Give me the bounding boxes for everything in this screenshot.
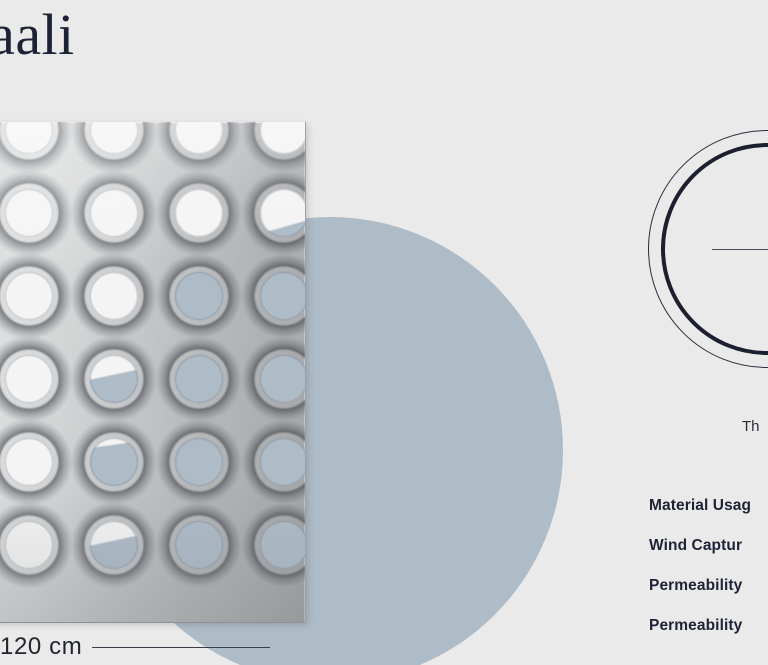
jaali-hole-bore	[260, 272, 306, 320]
jaali-hole-bore	[175, 521, 223, 569]
jaali-hole-bore	[175, 438, 223, 486]
jaali-hole-rim	[175, 521, 223, 569]
jaali-hole	[71, 336, 157, 422]
jaali-hole	[0, 253, 72, 339]
jaali-hole-bore	[90, 521, 138, 569]
jaali-hole-rim	[90, 438, 138, 486]
jaali-hole-bore	[175, 122, 223, 154]
jaali-hole-bore	[90, 355, 138, 403]
jaali-hole	[71, 170, 157, 256]
jaali-hole	[156, 170, 242, 256]
jaali-hole-rim	[175, 438, 223, 486]
jaali-hole-rim	[90, 355, 138, 403]
jaali-hole	[71, 419, 157, 505]
jaali-hole-bore	[5, 272, 53, 320]
jaali-hole	[71, 502, 157, 588]
jaali-hole	[0, 336, 72, 422]
stat-label: Material Usag	[649, 497, 751, 515]
poster-canvas: Jaali 120 cm Th Material Usag Wind Captu…	[0, 0, 768, 665]
jaali-hole-rim	[175, 355, 223, 403]
jaali-hole-rim	[175, 272, 223, 320]
jaali-hole	[156, 502, 242, 588]
dimension-width-label: 120 cm	[0, 633, 92, 661]
stat-row: Permeability	[649, 606, 768, 646]
stat-label: Wind Captur	[649, 537, 742, 555]
jaali-hole	[0, 122, 72, 173]
jaali-hole-rim	[260, 272, 306, 320]
jaali-hole-rim	[175, 189, 223, 237]
jaali-hole-bore	[5, 122, 53, 154]
thickness-caption: Th	[742, 418, 760, 435]
jaali-hole-bore	[260, 122, 306, 154]
jaali-hole-bore	[90, 189, 138, 237]
jaali-hole-bore	[260, 521, 306, 569]
jaali-hole-rim	[260, 355, 306, 403]
jaali-hole-bore	[260, 355, 306, 403]
jaali-hole	[0, 419, 72, 505]
jaali-hole	[156, 336, 242, 422]
jaali-hole	[0, 170, 72, 256]
jaali-hole	[241, 419, 306, 505]
perforated-jaali-panel	[0, 122, 306, 623]
jaali-hole-rim	[5, 189, 53, 237]
jaali-hole-bore	[260, 438, 306, 486]
jaali-hole	[241, 336, 306, 422]
stat-list: Material Usag Wind Captur Permeability P…	[649, 486, 768, 646]
jaali-hole-bore	[260, 189, 306, 237]
jaali-hole-rim	[90, 189, 138, 237]
jaali-hole	[0, 502, 72, 588]
stat-row: Wind Captur	[649, 526, 768, 566]
jaali-hole	[156, 253, 242, 339]
jaali-hole-bore	[175, 189, 223, 237]
jaali-hole-rim	[260, 521, 306, 569]
page-title: Jaali	[0, 2, 75, 68]
jaali-hole-rim	[5, 272, 53, 320]
jaali-hole	[71, 122, 157, 173]
jaali-hole-rim	[5, 438, 53, 486]
jaali-hole-rim	[5, 521, 53, 569]
stat-label: Permeability	[649, 617, 742, 635]
jaali-hole-rim	[260, 189, 306, 237]
jaali-hole	[241, 253, 306, 339]
stat-label: Permeability	[649, 577, 742, 595]
stat-row: Material Usag	[649, 486, 768, 526]
stat-row: Permeability	[649, 566, 768, 606]
jaali-hole	[241, 502, 306, 588]
dimension-width: 120 cm	[0, 632, 270, 662]
hole-grid	[0, 122, 305, 622]
jaali-hole-bore	[175, 355, 223, 403]
jaali-hole-bore	[175, 272, 223, 320]
jaali-hole	[156, 419, 242, 505]
jaali-hole-rim	[260, 438, 306, 486]
jaali-hole-rim	[90, 521, 138, 569]
jaali-hole-rim	[90, 272, 138, 320]
jaali-hole-bore	[90, 272, 138, 320]
jaali-hole-bore	[5, 438, 53, 486]
dimension-rule	[92, 647, 270, 648]
jaali-hole	[241, 122, 306, 173]
jaali-hole-bore	[5, 189, 53, 237]
thickness-diagram	[648, 130, 768, 370]
jaali-hole-rim	[5, 355, 53, 403]
jaali-hole	[241, 170, 306, 256]
jaali-hole	[71, 253, 157, 339]
jaali-hole-bore	[90, 122, 138, 154]
jaali-hole-bore	[5, 355, 53, 403]
jaali-hole	[156, 122, 242, 173]
jaali-hole-bore	[5, 521, 53, 569]
thickness-centerline	[712, 249, 768, 250]
jaali-hole-bore	[90, 438, 138, 486]
